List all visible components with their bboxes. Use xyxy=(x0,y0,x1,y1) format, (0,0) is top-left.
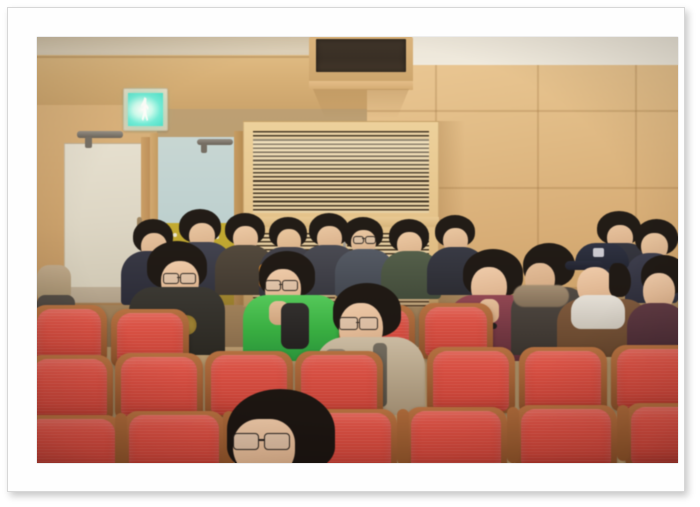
photo-frame xyxy=(7,7,685,492)
seat-armrest xyxy=(507,407,519,463)
seat-armrest xyxy=(617,405,629,461)
panel-dot xyxy=(173,233,177,237)
eyeglasses-bridge xyxy=(258,439,265,441)
screenshot-root xyxy=(0,0,700,507)
eyeglasses xyxy=(264,433,290,450)
projection-booth-shadow xyxy=(313,89,409,117)
wall-seam xyxy=(367,110,678,112)
vent-highlight xyxy=(253,139,429,179)
door-closer-icon xyxy=(77,131,123,138)
eyeglasses xyxy=(233,433,259,450)
projection-booth-window xyxy=(316,39,406,72)
seat-armrest xyxy=(115,413,127,463)
seat-armrest xyxy=(397,409,409,463)
door-closer-arm xyxy=(201,144,207,153)
vent-upper-grille xyxy=(253,131,429,213)
door-closer-arm xyxy=(85,137,92,148)
photograph xyxy=(37,37,678,463)
projection-booth-sill xyxy=(309,81,413,90)
